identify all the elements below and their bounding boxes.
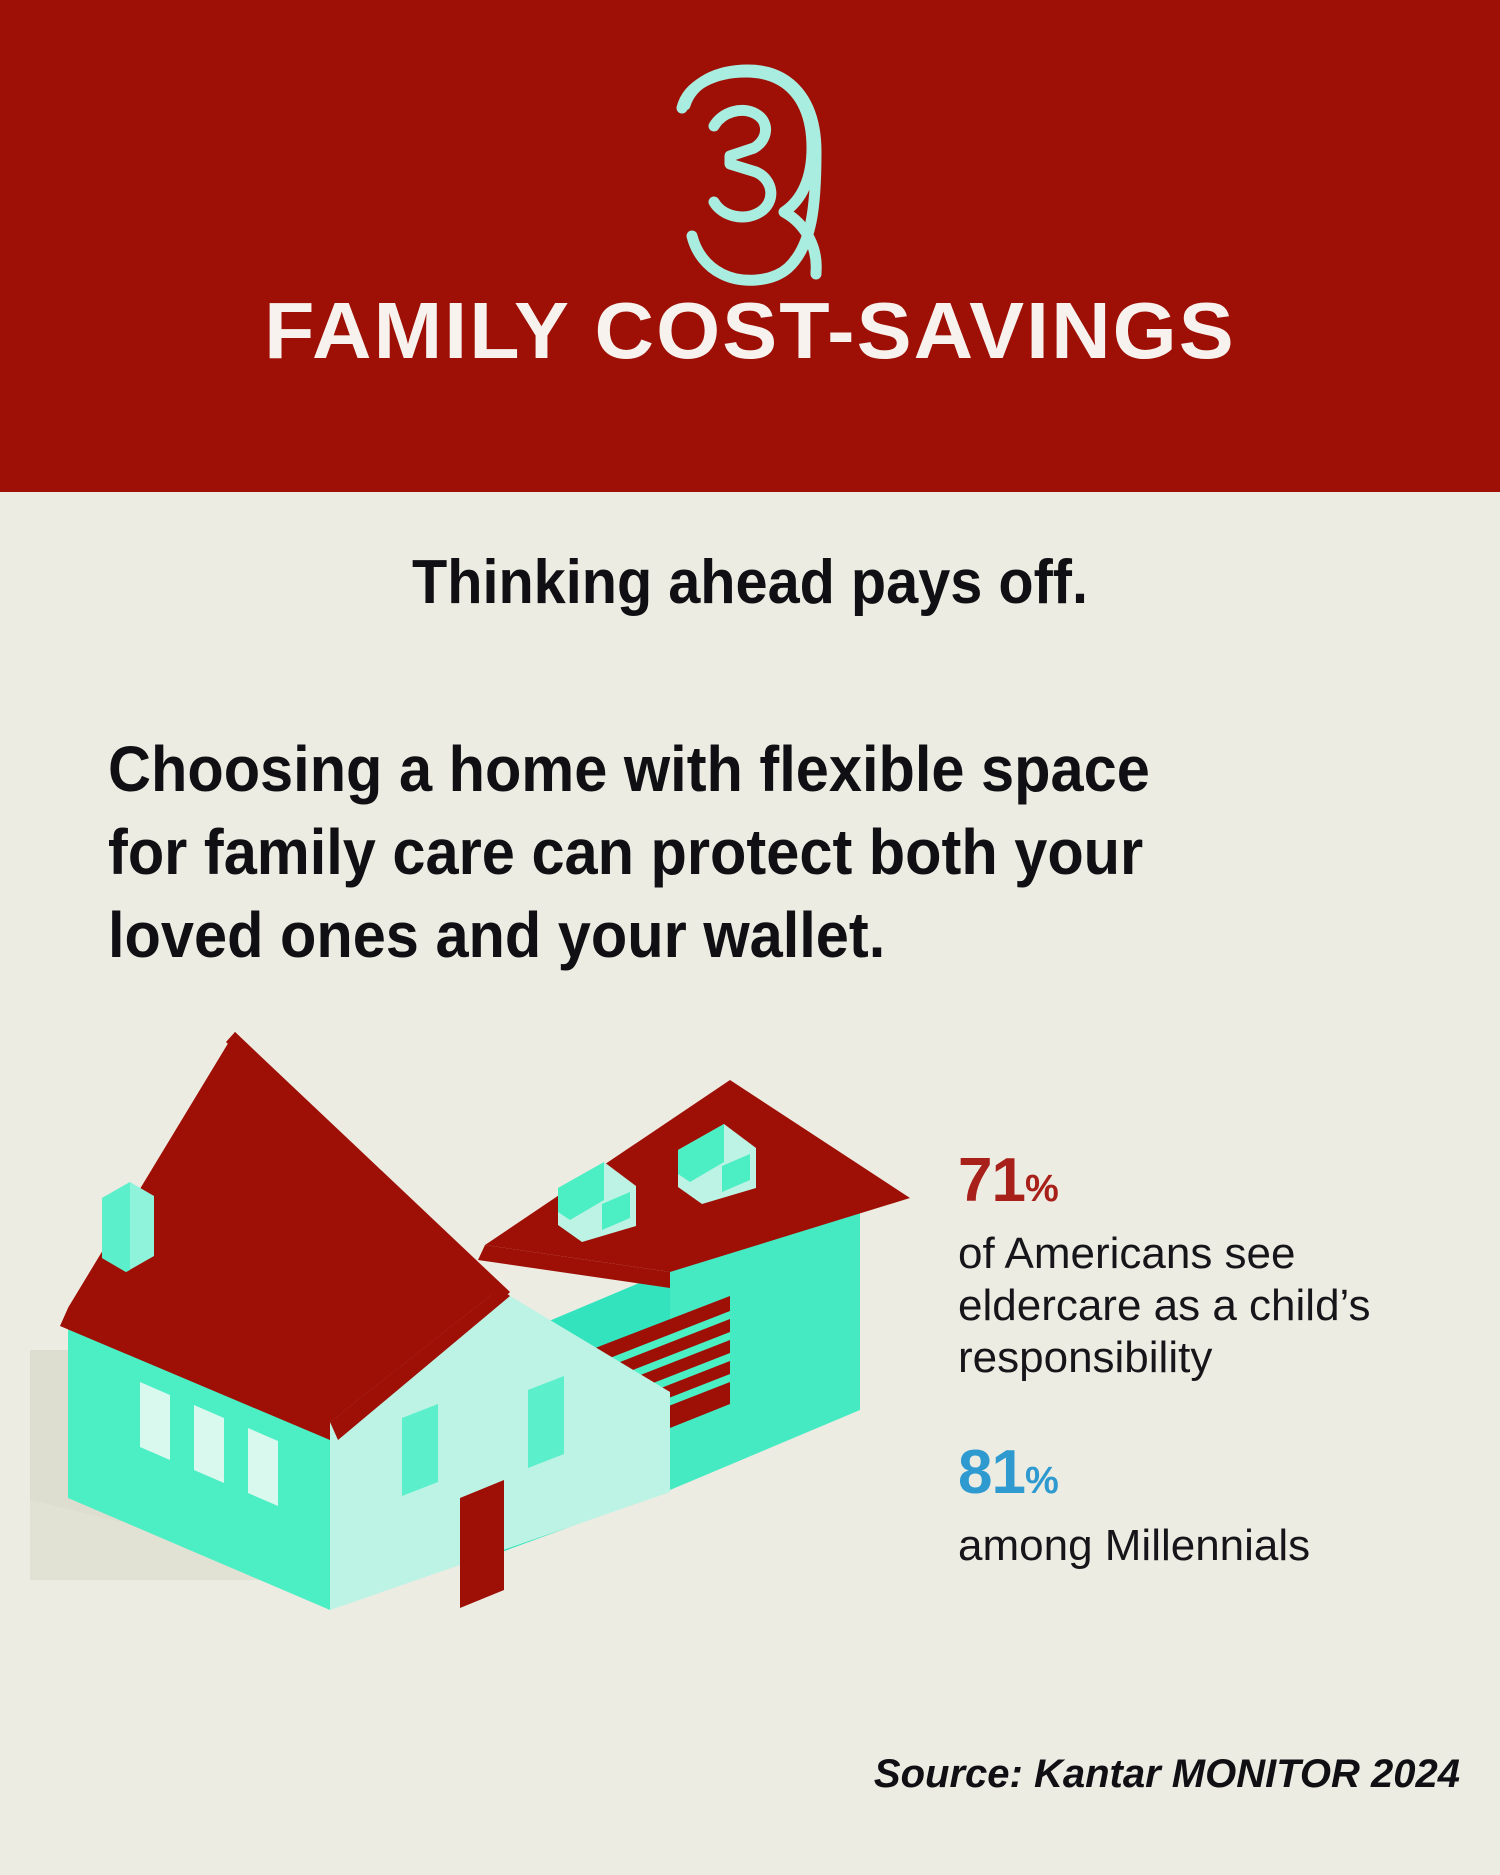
stat-description-line: responsibility — [958, 1332, 1428, 1384]
source-note: Source: Kantar MONITOR 2024 — [874, 1752, 1460, 1797]
paragraph-line: loved ones and your wallet. — [108, 894, 1336, 977]
number-three-outline-icon — [630, 60, 870, 290]
house-illustration — [30, 1020, 910, 1640]
lede-text: Thinking ahead pays off. — [53, 548, 1448, 618]
stat-percent-sign: % — [1025, 1168, 1058, 1210]
body-paragraph: Choosing a home with flexible space for … — [108, 728, 1336, 977]
paragraph-line: for family care can protect both your — [108, 811, 1336, 894]
stat-description-line: of Americans see — [958, 1228, 1428, 1280]
stat-block-81: 81% among Millennials — [958, 1440, 1428, 1572]
stat-description-81: among Millennials — [958, 1520, 1428, 1572]
front-window-left — [402, 1404, 438, 1496]
stat-description-71: of Americans see eldercare as a child’s … — [958, 1228, 1428, 1384]
page-title: FAMILY COST-SAVINGS — [0, 288, 1500, 374]
side-window — [194, 1405, 224, 1483]
header-banner: FAMILY COST-SAVINGS — [0, 0, 1500, 492]
front-door — [460, 1480, 504, 1608]
stat-block-71: 71% of Americans see eldercare as a chil… — [958, 1148, 1428, 1384]
stat-number: 81 — [958, 1438, 1025, 1507]
side-window — [248, 1428, 278, 1506]
side-window — [140, 1382, 170, 1460]
stat-description-line: among Millennials — [958, 1520, 1428, 1572]
front-window-right — [528, 1376, 564, 1468]
step-number-3 — [0, 60, 1500, 290]
chimney-side — [102, 1182, 130, 1272]
paragraph-line: Choosing a home with flexible space — [108, 728, 1336, 811]
stat-description-line: eldercare as a child’s — [958, 1280, 1428, 1332]
isometric-house-icon — [30, 1020, 910, 1640]
stat-value-81: 81% — [958, 1440, 1428, 1514]
statistics-panel: 71% of Americans see eldercare as a chil… — [958, 1148, 1428, 1628]
stat-value-71: 71% — [958, 1148, 1428, 1222]
infographic-poster: FAMILY COST-SAVINGS Thinking ahead pays … — [0, 0, 1500, 1875]
stat-number: 71 — [958, 1146, 1025, 1215]
stat-percent-sign: % — [1025, 1460, 1058, 1502]
